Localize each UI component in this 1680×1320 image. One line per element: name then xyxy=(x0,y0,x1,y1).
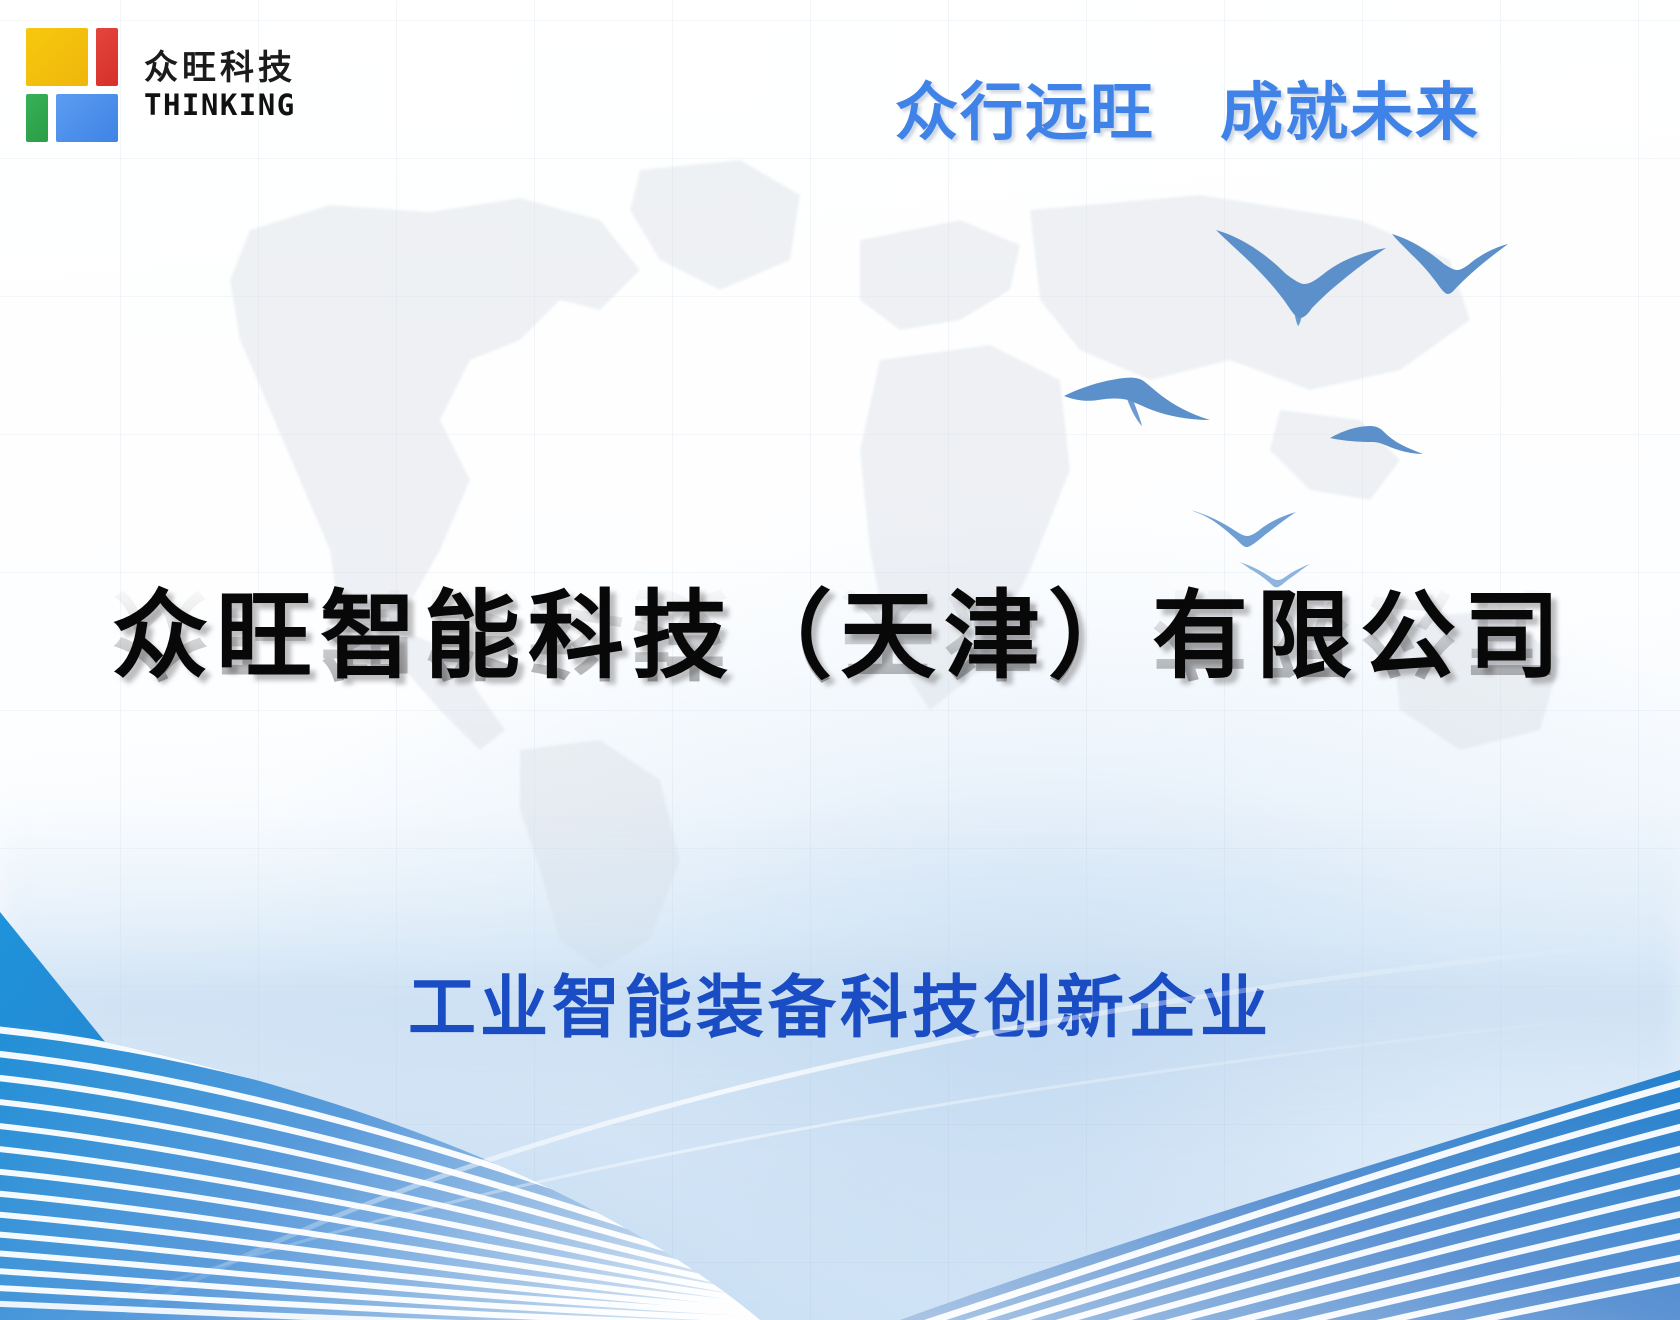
page-subtitle: 工业智能装备科技创新企业 xyxy=(0,952,1680,1051)
page-title-reflection: 众旺智能科技（天津）有限公司 xyxy=(0,577,1680,685)
logo-company-name-en: THINKING xyxy=(144,91,296,120)
logo-square-red-icon xyxy=(96,28,118,86)
logo-mark-grid xyxy=(26,28,118,142)
header-tagline: 众行远旺 成就未来 xyxy=(895,62,1480,153)
logo-square-yellow-icon xyxy=(26,28,88,86)
logo-company-name-cn: 众旺科技 xyxy=(144,51,296,85)
logo-wordmark: 众旺科技 THINKING xyxy=(144,51,296,120)
logo-square-blue-icon xyxy=(56,94,118,142)
presentation-slide: 众旺科技 THINKING 众行远旺 成就未来 xyxy=(0,0,1680,1320)
title-block: 众旺智能科技（天津）有限公司 众旺智能科技（天津）有限公司 xyxy=(0,583,1680,792)
company-logo: 众旺科技 THINKING xyxy=(26,28,296,142)
logo-square-green-icon xyxy=(26,94,48,142)
